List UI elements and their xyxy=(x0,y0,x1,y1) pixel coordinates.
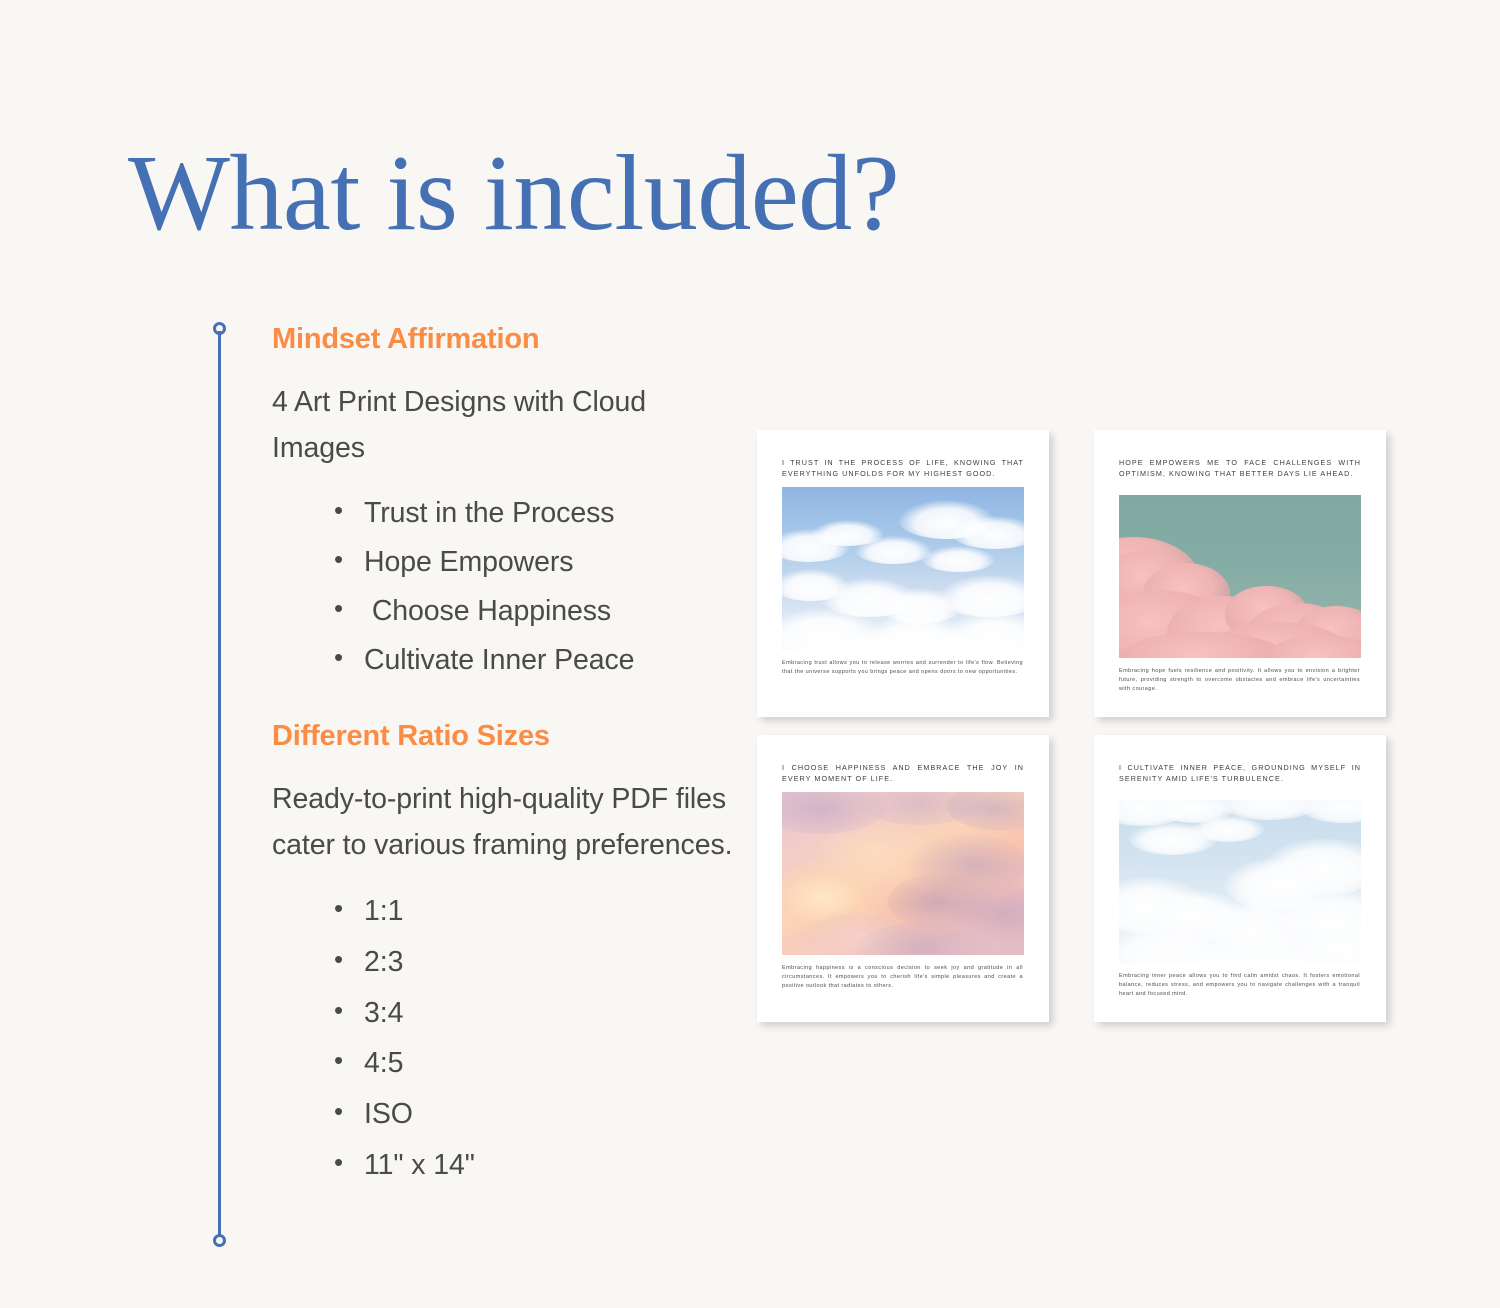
timeline-end-dot-icon xyxy=(213,1234,226,1247)
timeline-connector xyxy=(211,322,229,1247)
list-item: 11" x 14" xyxy=(272,1140,742,1191)
section-body: Ready-to-print high-quality PDF files ca… xyxy=(272,776,742,868)
section-heading: Different Ratio Sizes xyxy=(272,719,742,754)
feature-list: Mindset Affirmation 4 Art Print Designs … xyxy=(272,322,742,1191)
section-body: 4 Art Print Designs with Cloud Images xyxy=(272,379,742,471)
art-print-affirmation: I CHOOSE HAPPINESS AND EMBRACE THE JOY I… xyxy=(782,762,1024,786)
list-item: 2:3 xyxy=(272,937,742,988)
timeline-line xyxy=(218,331,221,1238)
section-different-ratio-sizes: Different Ratio Sizes Ready-to-print hig… xyxy=(272,719,742,1190)
art-print-affirmation: I CULTIVATE INNER PEACE, GROUNDING MYSEL… xyxy=(1119,762,1361,794)
section-mindset-affirmation: Mindset Affirmation 4 Art Print Designs … xyxy=(272,322,742,685)
list-item: Cultivate Inner Peace xyxy=(272,636,742,685)
section-heading: Mindset Affirmation xyxy=(272,322,742,357)
art-print-gallery: I TRUST IN THE PROCESS OF LIFE, KNOWING … xyxy=(757,430,1370,1022)
art-print-caption: Embracing hope fuels resilience and posi… xyxy=(1119,667,1361,694)
blue-sky-white-clouds-image xyxy=(782,487,1024,650)
art-print-card: HOPE EMPOWERS ME TO FACE CHALLENGES WITH… xyxy=(1094,430,1386,717)
art-print-caption: Embracing happiness is a conscious decis… xyxy=(782,964,1024,991)
art-print-image xyxy=(782,792,1024,955)
art-print-caption: Embracing trust allows you to release wo… xyxy=(782,659,1024,677)
list-item: Hope Empowers xyxy=(272,538,742,587)
sunset-pink-orange-clouds-image xyxy=(782,792,1024,955)
list-item: 3:4 xyxy=(272,988,742,1039)
art-print-card: I CULTIVATE INNER PEACE, GROUNDING MYSEL… xyxy=(1094,735,1386,1022)
design-name-list: Trust in the Process Hope Empowers Choos… xyxy=(272,489,742,685)
pale-blue-sky-clouds-image xyxy=(1119,800,1361,963)
art-print-image xyxy=(1119,800,1361,963)
page-title: What is included? xyxy=(128,140,899,248)
art-print-card: I TRUST IN THE PROCESS OF LIFE, KNOWING … xyxy=(757,430,1049,717)
promo-slide: What is included? Mindset Affirmation 4 … xyxy=(0,0,1500,1308)
list-item: 1:1 xyxy=(272,886,742,937)
art-print-affirmation: I TRUST IN THE PROCESS OF LIFE, KNOWING … xyxy=(782,457,1024,481)
art-print-card: I CHOOSE HAPPINESS AND EMBRACE THE JOY I… xyxy=(757,735,1049,1022)
art-print-caption: Embracing inner peace allows you to find… xyxy=(1119,972,1361,999)
art-print-image xyxy=(1119,495,1361,658)
list-item: Choose Happiness xyxy=(272,587,742,636)
ratio-size-list: 1:1 2:3 3:4 4:5 ISO 11" x 14" xyxy=(272,886,742,1190)
art-print-image xyxy=(782,487,1024,650)
list-item: 4:5 xyxy=(272,1038,742,1089)
art-print-affirmation: HOPE EMPOWERS ME TO FACE CHALLENGES WITH… xyxy=(1119,457,1361,489)
teal-sky-pink-clouds-image xyxy=(1119,495,1361,658)
list-item: Trust in the Process xyxy=(272,489,742,538)
list-item: ISO xyxy=(272,1089,742,1140)
